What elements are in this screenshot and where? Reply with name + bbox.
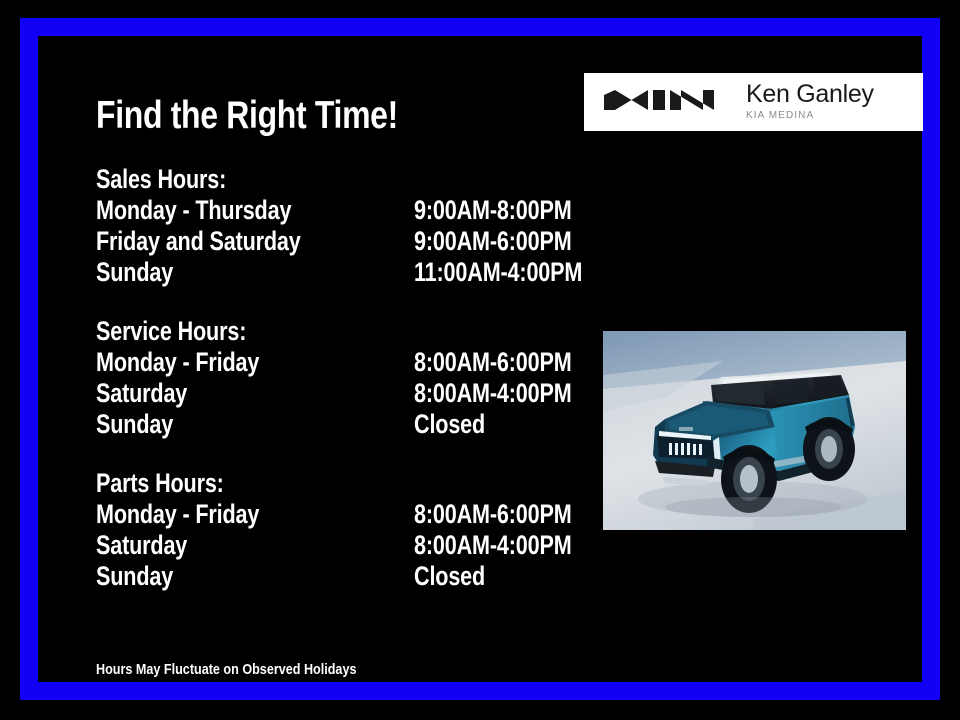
hours-time-value: 8:00AM-4:00PM xyxy=(414,530,572,561)
slide-blue-border: Find the Right Time! Sales Hours:Monday … xyxy=(20,18,940,700)
slide-content-area: Find the Right Time! Sales Hours:Monday … xyxy=(38,36,922,682)
hours-day-label: Sunday xyxy=(96,561,173,592)
hours-row: Friday and Saturday9:00AM-6:00PM xyxy=(96,226,566,257)
slide-root: Find the Right Time! Sales Hours:Monday … xyxy=(0,0,960,720)
hours-time-value: 8:00AM-4:00PM xyxy=(414,378,572,409)
hours-time-value: 9:00AM-8:00PM xyxy=(414,195,572,226)
hours-row: Monday - Friday8:00AM-6:00PM xyxy=(96,347,566,378)
hours-day-label: Friday and Saturday xyxy=(96,226,301,257)
hours-row: Sunday11:00AM-4:00PM xyxy=(96,257,566,288)
hours-day-label: Monday - Friday xyxy=(96,347,259,378)
hours-row: Saturday8:00AM-4:00PM xyxy=(96,530,566,561)
hours-sections: Sales Hours:Monday - Thursday9:00AM-8:00… xyxy=(96,164,566,620)
hours-row: Monday - Thursday9:00AM-8:00PM xyxy=(96,195,566,226)
hours-row: Monday - Friday8:00AM-6:00PM xyxy=(96,499,566,530)
hours-day-label: Sunday xyxy=(96,257,173,288)
kia-logo-icon xyxy=(600,86,718,118)
holiday-disclaimer: Hours May Fluctuate on Observed Holidays xyxy=(96,661,356,678)
vehicle-photo xyxy=(603,331,906,530)
hours-row: SundayClosed xyxy=(96,561,566,592)
dealer-subtitle: KIA MEDINA xyxy=(746,109,874,122)
hours-day-label: Monday - Friday xyxy=(96,499,259,530)
hours-group-heading: Sales Hours: xyxy=(96,164,472,195)
hours-time-value: 11:00AM-4:00PM xyxy=(414,257,582,288)
hours-group-heading: Service Hours: xyxy=(96,316,472,347)
page-title: Find the Right Time! xyxy=(96,96,398,135)
dealer-logo-text: Ken Ganley KIA MEDINA xyxy=(746,82,874,122)
hours-group: Parts Hours:Monday - Friday8:00AM-6:00PM… xyxy=(96,468,566,592)
hours-day-label: Sunday xyxy=(96,409,173,440)
hours-day-label: Saturday xyxy=(96,530,187,561)
hours-row: Saturday8:00AM-4:00PM xyxy=(96,378,566,409)
hours-day-label: Saturday xyxy=(96,378,187,409)
hours-time-value: Closed xyxy=(414,561,485,592)
hours-row: SundayClosed xyxy=(96,409,566,440)
dealer-logo-block: Ken Ganley KIA MEDINA xyxy=(584,73,923,131)
hours-time-value: 8:00AM-6:00PM xyxy=(414,347,572,378)
hours-group-heading: Parts Hours: xyxy=(96,468,472,499)
hours-time-value: 9:00AM-6:00PM xyxy=(414,226,572,257)
hours-time-value: Closed xyxy=(414,409,485,440)
hours-group: Service Hours:Monday - Friday8:00AM-6:00… xyxy=(96,316,566,440)
dealer-name: Ken Ganley xyxy=(746,82,874,107)
hours-time-value: 8:00AM-6:00PM xyxy=(414,499,572,530)
hours-group: Sales Hours:Monday - Thursday9:00AM-8:00… xyxy=(96,164,566,288)
hours-day-label: Monday - Thursday xyxy=(96,195,291,226)
